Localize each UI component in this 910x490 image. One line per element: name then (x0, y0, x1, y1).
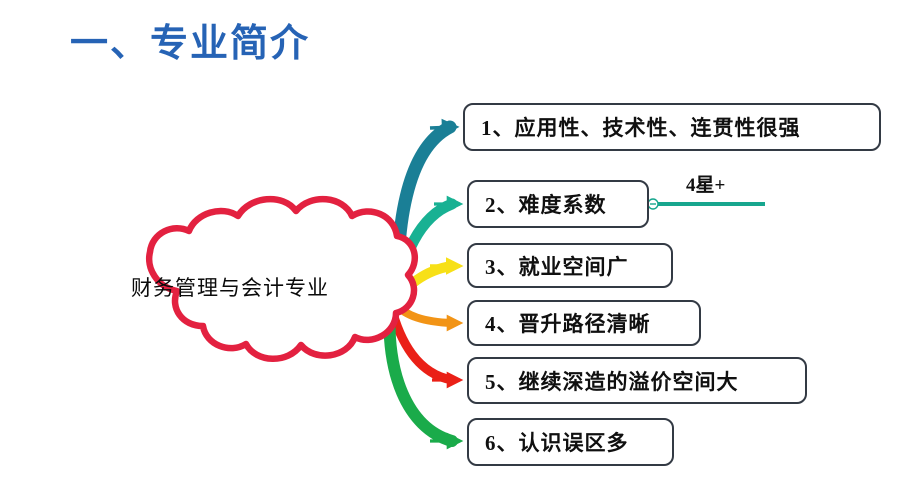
central-node-label: 财务管理与会计专业 (90, 272, 370, 302)
branch-node-6[interactable]: 6、认识误区多 (467, 418, 674, 466)
sub-branch-connector (648, 199, 765, 209)
branch-node-1-label: 1、应用性、技术性、连贯性很强 (481, 112, 801, 142)
branch-node-4-label: 4、晋升路径清晰 (485, 308, 651, 338)
branch-node-1[interactable]: 1、应用性、技术性、连贯性很强 (463, 103, 881, 151)
branch-node-3-label: 3、就业空间广 (485, 251, 629, 281)
sub-branch-label: 4星+ (686, 170, 725, 197)
mind-map-connectors (0, 0, 910, 490)
branch-node-5[interactable]: 5、继续深造的溢价空间大 (467, 357, 807, 404)
branch-node-4[interactable]: 4、晋升路径清晰 (467, 300, 701, 346)
slide-canvas: 一、专业简介 (0, 0, 910, 490)
branch-node-5-label: 5、继续深造的溢价空间大 (485, 366, 739, 396)
branch-node-2-label: 2、难度系数 (485, 189, 607, 219)
branch-node-2[interactable]: 2、难度系数 (467, 180, 649, 228)
branch-node-3[interactable]: 3、就业空间广 (467, 243, 673, 288)
branch-node-6-label: 6、认识误区多 (485, 427, 629, 457)
